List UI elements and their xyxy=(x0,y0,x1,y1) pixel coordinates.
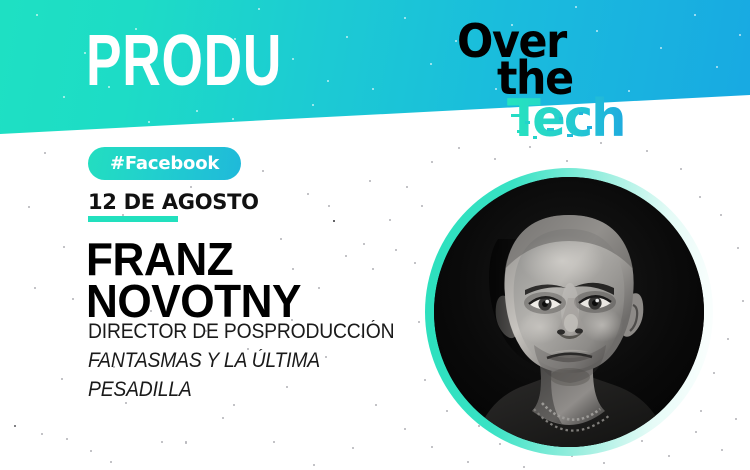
speaker-last-name: NOVOTNY xyxy=(86,280,301,322)
produ-logo[interactable]: PRODU xyxy=(86,25,282,97)
speaker-portrait xyxy=(425,168,713,456)
portrait-artwork-icon xyxy=(434,177,704,447)
speaker-role: DIRECTOR DE POSPRODUCCIÓN xyxy=(88,320,394,344)
platform-badge-facebook[interactable]: #Facebook xyxy=(88,147,241,180)
date-underline-accent xyxy=(88,216,178,222)
logo-line-tech: Tech xyxy=(507,93,676,145)
over-the-tech-logo[interactable]: Over the Tech xyxy=(455,18,685,145)
speaker-name: FRANZ NOVOTNY xyxy=(86,238,301,322)
promo-poster: PRODU Over the Tech #Facebook 12 DE AGOS… xyxy=(0,0,750,470)
credit-line-2: PESADILLA xyxy=(88,375,320,404)
speaker-credit: FANTASMAS Y LA ÚLTIMA PESADILLA xyxy=(88,346,320,404)
speaker-first-name: FRANZ xyxy=(86,238,301,280)
event-date: 12 DE AGOSTO xyxy=(88,190,259,214)
portrait-image xyxy=(434,177,704,447)
credit-line-1: FANTASMAS Y LA ÚLTIMA xyxy=(88,346,320,375)
